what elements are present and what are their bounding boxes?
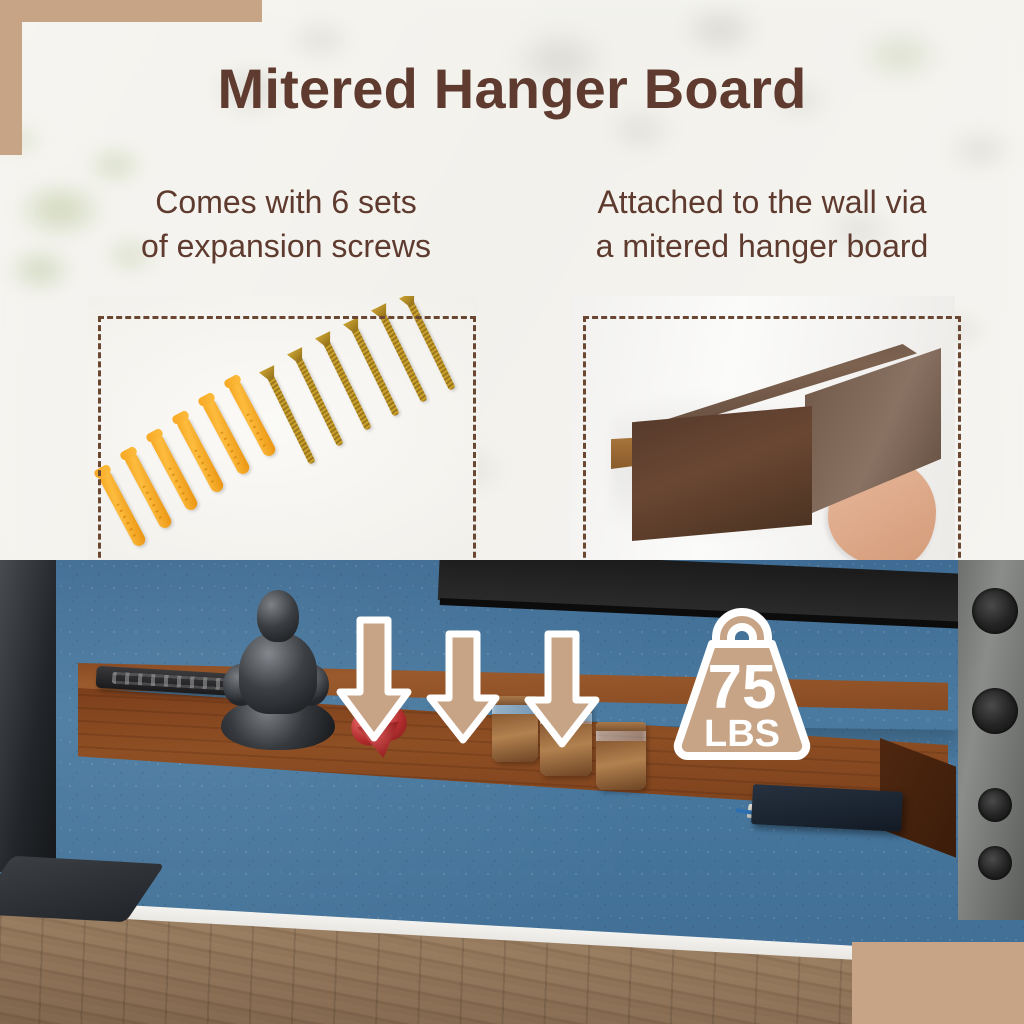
book (751, 784, 903, 832)
speaker-tower (958, 560, 1024, 920)
speaker-driver (978, 788, 1012, 822)
tv-stand-post (0, 560, 56, 872)
speaker-driver (972, 688, 1018, 734)
speaker-driver (972, 588, 1018, 634)
caption-right: Attached to the wall via a mitered hange… (522, 180, 1002, 268)
buddha-statue (215, 590, 337, 755)
down-arrow-1 (334, 614, 414, 746)
badge-unit: LBS (704, 713, 780, 755)
hanger-board-install-photo (570, 296, 955, 578)
down-arrow-2 (424, 628, 502, 748)
weight-capacity-badge: 75 LBS (660, 592, 824, 764)
infographic-page: Mitered Hanger Board Comes with 6 sets o… (0, 0, 1024, 1024)
speaker-driver (978, 846, 1012, 880)
caption-left-line1: Comes with 6 sets (66, 180, 506, 224)
caption-left-line2: of expansion screws (66, 224, 506, 268)
page-title: Mitered Hanger Board (0, 60, 1024, 119)
caption-left: Comes with 6 sets of expansion screws (66, 180, 506, 268)
corner-accent-top (0, 0, 262, 22)
badge-value: 75 (708, 653, 777, 722)
hanger-board-panel (570, 296, 955, 578)
shelf-board-end (632, 406, 812, 541)
candle-jar (596, 722, 646, 790)
expansion-screws-photo (88, 296, 478, 578)
expansion-screws-panel (88, 296, 478, 578)
corner-accent-bottom-right (852, 942, 1024, 1024)
caption-right-line1: Attached to the wall via (522, 180, 1002, 224)
caption-right-line2: a mitered hanger board (522, 224, 1002, 268)
down-arrow-3 (522, 628, 602, 752)
